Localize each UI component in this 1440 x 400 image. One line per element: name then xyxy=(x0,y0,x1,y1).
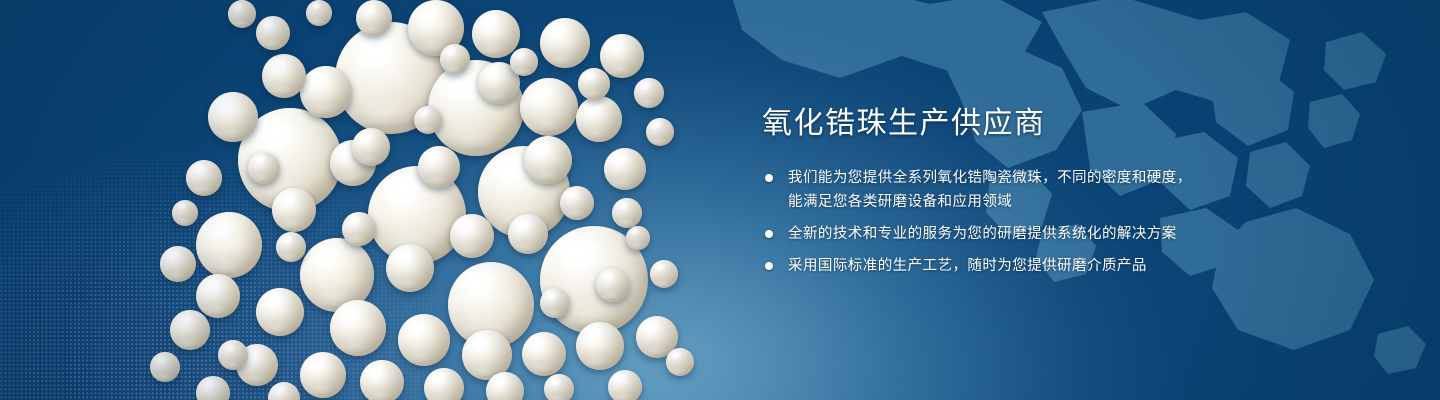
background-vignette xyxy=(0,0,1440,400)
hero-banner: 氧化锆珠生产供应商 我们能为您提供全系列氧化锆陶瓷微珠，不同的密度和硬度， 能满… xyxy=(0,0,1440,400)
